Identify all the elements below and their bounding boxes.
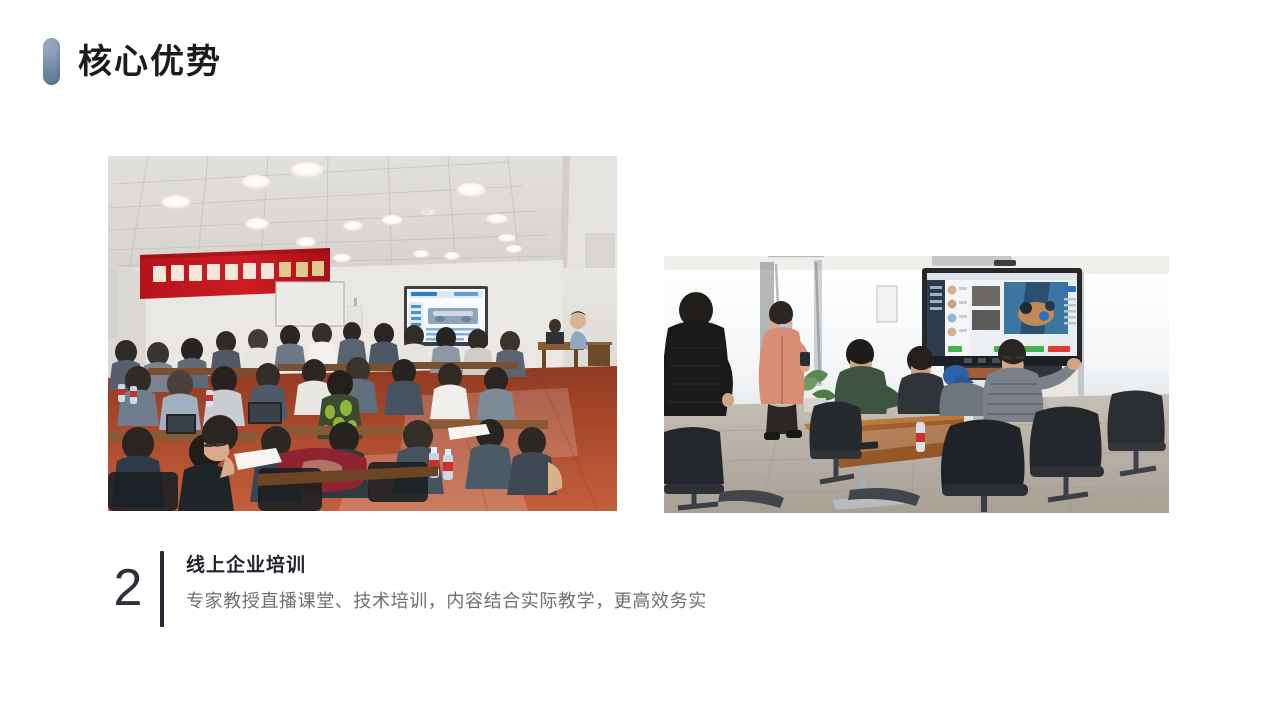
classroom-photo-illustration: [108, 156, 617, 511]
photo-offline-classroom-training: [108, 156, 617, 511]
slide-header: 核心优势: [43, 38, 222, 85]
caption-block: 2 线上企业培训 专家教授直播课堂、技术培训，内容结合实际教学，更高效务实: [100, 549, 707, 627]
slide-canvas: 核心优势: [0, 0, 1280, 720]
caption-heading: 线上企业培训: [186, 552, 707, 580]
caption-number: 2: [100, 549, 156, 627]
caption-description: 专家教授直播课堂、技术培训，内容结合实际教学，更高效务实: [186, 588, 707, 614]
meeting-room-photo-illustration: [664, 256, 1169, 513]
photo-online-video-conference: [664, 256, 1169, 513]
title-bullet-icon: [43, 38, 60, 85]
caption-vertical-rule: [160, 551, 164, 627]
caption-text-group: 线上企业培训 专家教授直播课堂、技术培训，内容结合实际教学，更高效务实: [186, 549, 707, 614]
page-title: 核心优势: [78, 45, 222, 79]
